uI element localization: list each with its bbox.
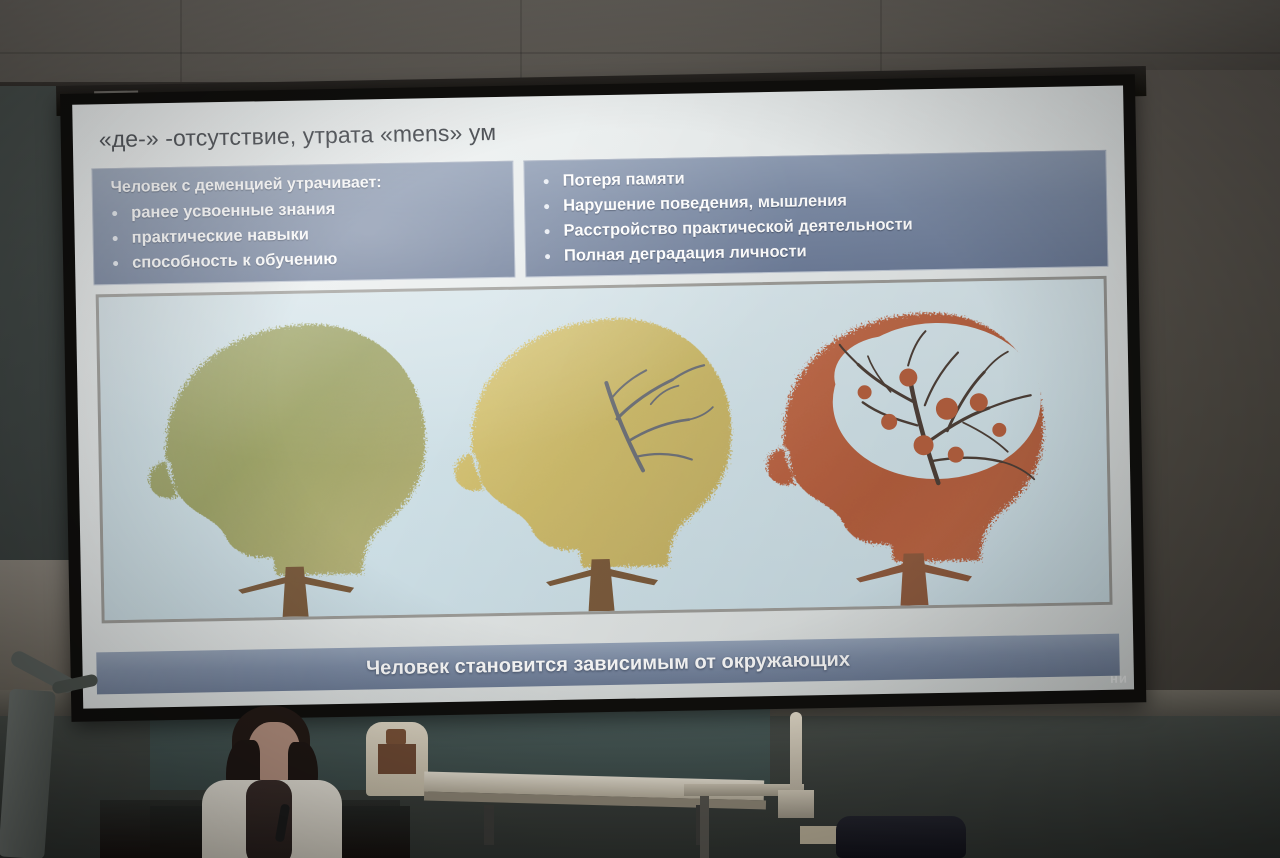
bag (836, 816, 966, 858)
slide-title: «де-» -отсутствие, утрата «mens» ум (99, 108, 1104, 153)
slide-illustration (96, 276, 1113, 623)
left-box-list: ранее усвоенные знания практические навы… (103, 194, 504, 277)
lecture-room: «де-» -отсутствие, утрата «mens» ум Чело… (0, 0, 1280, 858)
head-tree-yellow (435, 308, 760, 614)
head-tree-red (739, 303, 1074, 609)
right-text-box: Потеря памяти Нарушение поведения, мышле… (523, 150, 1108, 278)
side-table-leg (700, 796, 709, 858)
slide-text-boxes: Человек с деменцией утрачивает: ранее ус… (91, 150, 1108, 286)
right-box-list: Потеря памяти Нарушение поведения, мышле… (534, 159, 1097, 270)
head-tree-green (121, 314, 456, 620)
banner-text: Человек становится зависимым от окружающ… (366, 648, 850, 680)
projection-screen: «де-» -отсутствие, утрата «mens» ум Чело… (60, 74, 1146, 722)
slide-banner: Человек становится зависимым от окружающ… (96, 634, 1120, 695)
iv-pole-base (778, 790, 814, 818)
projected-slide: «де-» -отсутствие, утрата «mens» ум Чело… (72, 86, 1134, 709)
slide-content: «де-» -отсутствие, утрата «mens» ум Чело… (72, 86, 1134, 709)
left-box-heading: Человек с деменцией утрачивает: (111, 172, 503, 197)
left-text-box: Человек с деменцией утрачивает: ранее ус… (91, 161, 515, 286)
bed-leg (484, 805, 494, 845)
bed-headboard (366, 722, 428, 796)
presenter (196, 706, 346, 858)
